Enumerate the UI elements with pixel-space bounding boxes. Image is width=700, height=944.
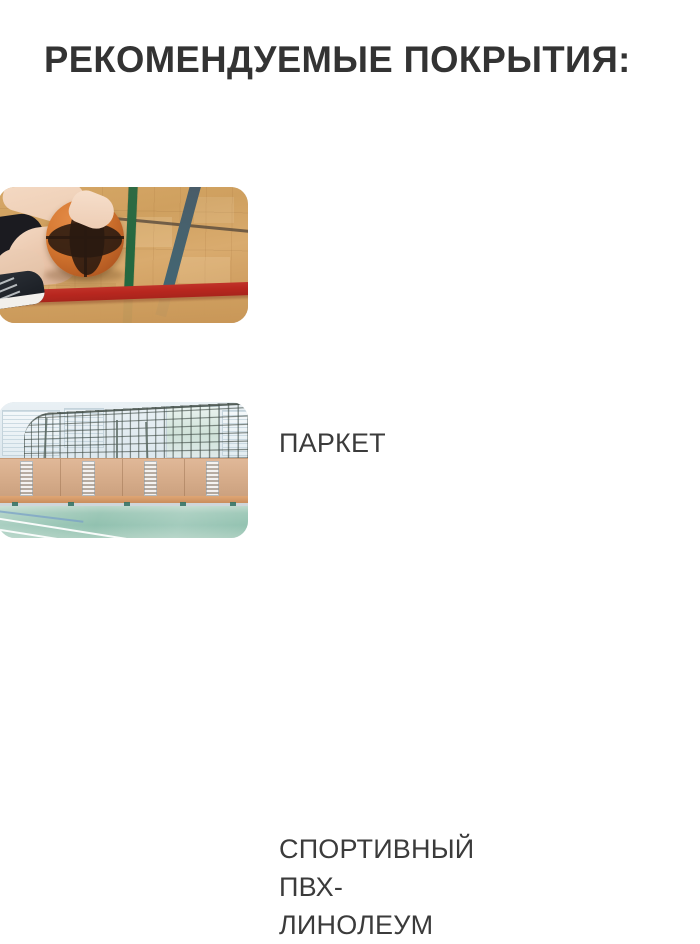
- parquet-plank-patch: [194, 197, 234, 223]
- floor-gloss-reflection: [0, 506, 248, 538]
- wall-vent-grill: [206, 461, 219, 496]
- wall-vent-grill: [20, 461, 33, 496]
- basketball-seam: [48, 222, 122, 257]
- covering-label-parquet: ПАРКЕТ: [279, 424, 386, 462]
- wall-vent-grill: [144, 461, 157, 496]
- poster-root: РЕКОМЕНДУЕМЫЕ ПОКРЫТИЯ:: [0, 0, 700, 700]
- gym-scene: [0, 402, 248, 538]
- pvc-linoleum-thumbnail[interactable]: [0, 402, 248, 538]
- sneaker-lace: [0, 290, 20, 300]
- covering-label-pvc-linoleum: СПОРТИВНЫЙ ПВХ-ЛИНОЛЕУМ: [279, 830, 474, 944]
- pvc-linoleum-floor: [0, 506, 248, 538]
- page-title: РЕКОМЕНДУЕМЫЕ ПОКРЫТИЯ:: [44, 38, 631, 82]
- wall-vent-grill: [82, 461, 95, 496]
- parquet-scene: [0, 187, 248, 323]
- parquet-plank-patch: [178, 257, 230, 283]
- parquet-thumbnail[interactable]: [0, 187, 248, 323]
- gym-wall-bars: [0, 458, 248, 499]
